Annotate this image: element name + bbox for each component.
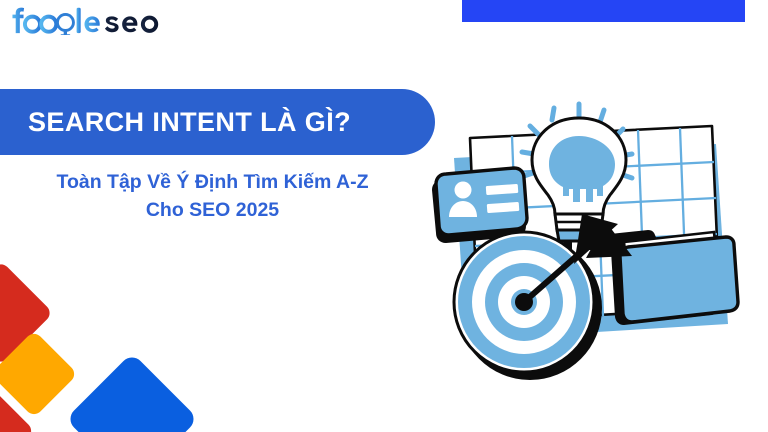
top-right-blue-bar <box>462 0 745 22</box>
page-title: SEARCH INTENT LÀ GÌ? <box>28 109 351 136</box>
subtitle-line-2: Cho SEO 2025 <box>0 196 425 224</box>
folder-icon <box>610 230 738 325</box>
magnifier-bar-chart-icon <box>57 14 73 35</box>
hero-title-banner: SEARCH INTENT LÀ GÌ? <box>0 89 435 155</box>
seo-search-intent-illustration <box>418 96 758 396</box>
brand-logo[interactable] <box>12 6 170 36</box>
hero-subtitle: Toàn Tập Về Ý Định Tìm Kiếm A-Z Cho SEO … <box>0 168 425 225</box>
blue-diamond <box>66 353 199 432</box>
subtitle-line-1: Toàn Tập Về Ý Định Tìm Kiếm A-Z <box>0 168 425 196</box>
poster-canvas: SEARCH INTENT LÀ GÌ? Toàn Tập Về Ý Định … <box>0 0 768 432</box>
